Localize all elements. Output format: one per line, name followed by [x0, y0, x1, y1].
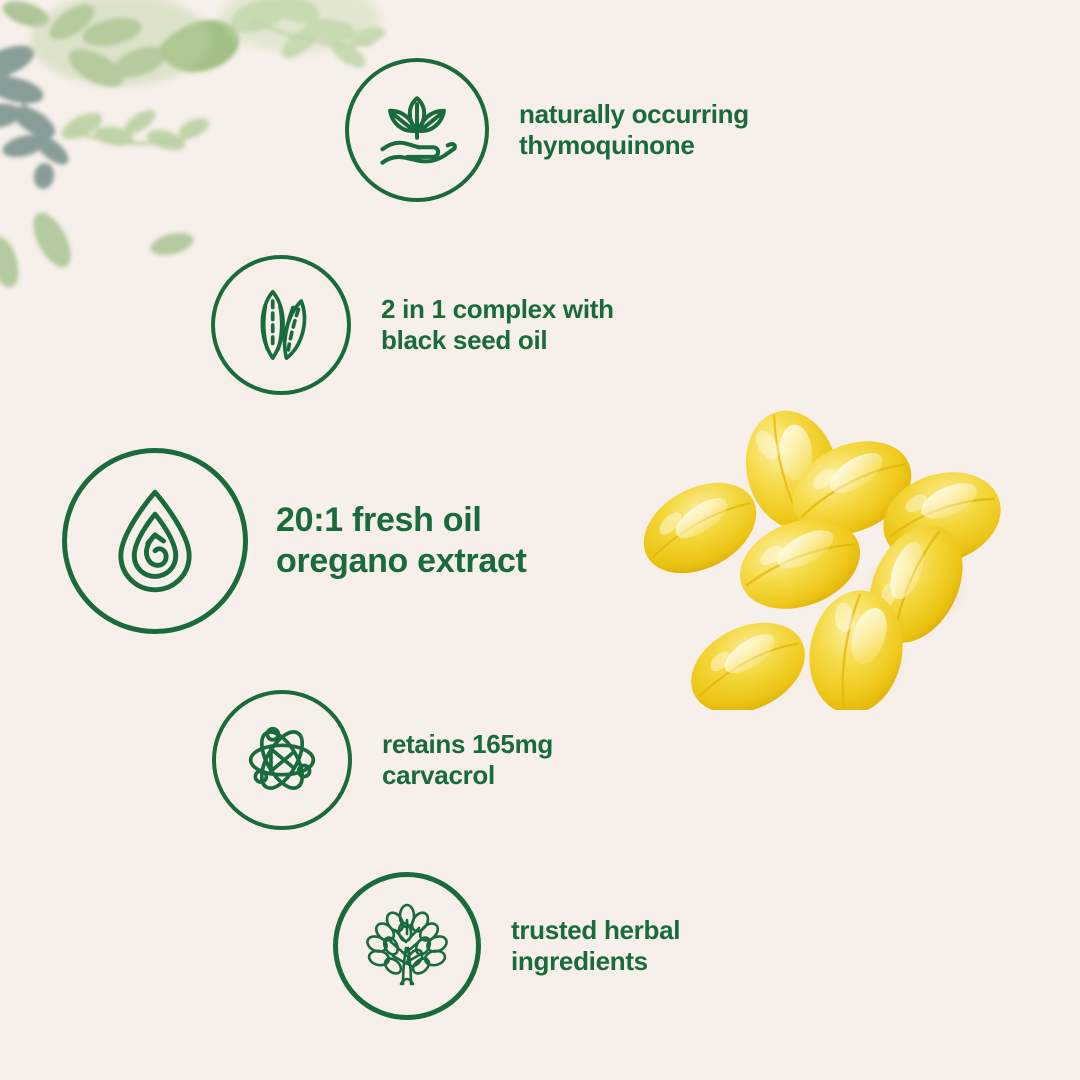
feature-item-oregano-extract: 20:1 fresh oil oregano extract: [62, 448, 527, 634]
feature-label: retains 165mg carvacrol: [382, 729, 553, 791]
feature-item-thymoquinone: naturally occurring thymoquinone: [345, 58, 749, 202]
feature-label: 20:1 fresh oil oregano extract: [276, 500, 527, 582]
feature-item-carvacrol: retains 165mg carvacrol: [212, 690, 553, 830]
feature-label: naturally occurring thymoquinone: [519, 99, 749, 161]
feature-item-black-seed-oil: 2 in 1 complex with black seed oil: [211, 255, 614, 395]
tree-icon: [333, 872, 481, 1020]
infographic-canvas: naturally occurring thymoquinone 2 in 1 …: [0, 0, 1080, 1080]
feature-label: trusted herbal ingredients: [511, 915, 680, 977]
softgel-capsules-image: [620, 360, 1020, 710]
oil-droplet-spiral-icon: [62, 448, 248, 634]
seed-pair-icon: [211, 255, 351, 395]
hand-holding-plant-icon: [345, 58, 489, 202]
feature-label: 2 in 1 complex with black seed oil: [381, 294, 614, 356]
molecule-atom-icon: [212, 690, 352, 830]
feature-item-herbal-ingredients: trusted herbal ingredients: [333, 872, 680, 1020]
